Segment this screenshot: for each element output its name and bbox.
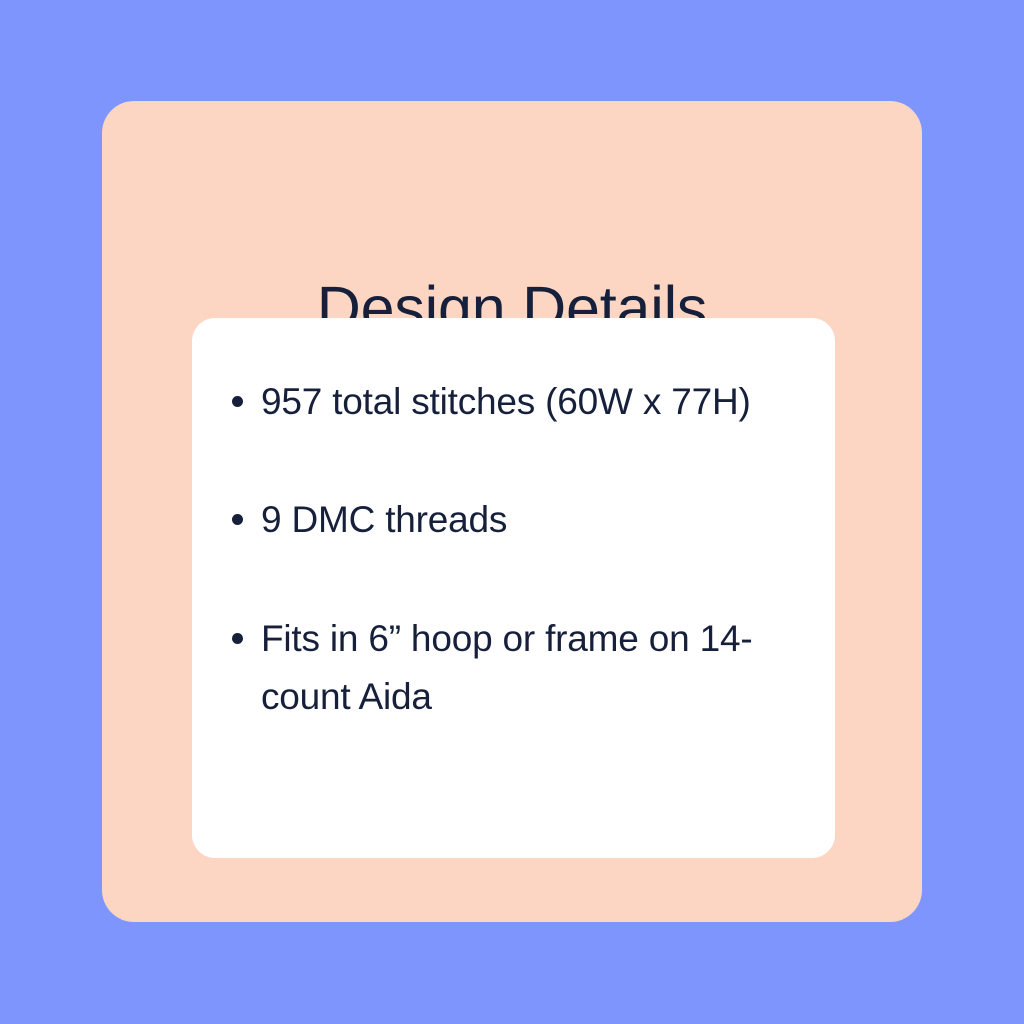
bullet-icon [232, 633, 243, 644]
list-item-label: 9 DMC threads [261, 491, 832, 549]
list-item-label: Fits in 6” hoop or frame on 14-count Aid… [261, 610, 832, 727]
bullet-icon [232, 514, 243, 525]
bullet-icon [232, 396, 243, 407]
list-item-label: 957 total stitches (60W x 77H) [261, 373, 832, 431]
details-card: 957 total stitches (60W x 77H) 9 DMC thr… [192, 318, 835, 858]
poster-canvas: Design Details 957 total stitches (60W x… [0, 0, 1024, 1024]
details-list: 957 total stitches (60W x 77H) 9 DMC thr… [232, 373, 832, 727]
list-item: 9 DMC threads [232, 491, 832, 549]
list-item: 957 total stitches (60W x 77H) [232, 373, 832, 431]
design-details-panel: Design Details 957 total stitches (60W x… [102, 101, 922, 922]
list-item: Fits in 6” hoop or frame on 14-count Aid… [232, 610, 832, 727]
